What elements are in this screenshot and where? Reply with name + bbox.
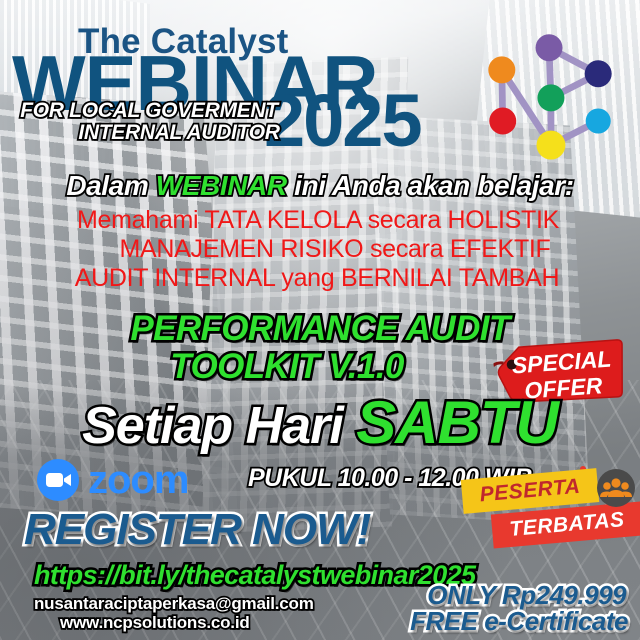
webinar-poster: The Catalyst WEBINAR 2025 FOR LOCAL GOVE… bbox=[0, 0, 640, 640]
lead-highlight: WEBINAR bbox=[156, 170, 287, 201]
logo-node-navy bbox=[585, 60, 612, 87]
logo-node-purple bbox=[536, 34, 563, 61]
logo-nodes bbox=[488, 34, 611, 159]
subtitle-line-1: FOR LOCAL GOVERMENT bbox=[14, 100, 284, 121]
limited-seats-badge: PESERTA TERBATAS bbox=[462, 470, 640, 550]
lead-after: ini Anda akan belajar: bbox=[287, 170, 574, 201]
benefit-list: Memahami TATA KELOLA secara HOLISTIK MAN… bbox=[0, 206, 640, 293]
title-year: 2025 bbox=[264, 84, 421, 158]
free-certificate-label: FREE e-Certificate bbox=[410, 606, 628, 637]
group-people-icon bbox=[596, 468, 636, 508]
logo-node-yellow bbox=[537, 131, 566, 160]
schedule-prefix: Setiap Hari bbox=[82, 397, 343, 455]
subtitle-line-2: INTERNAL AUDITOR bbox=[44, 122, 314, 143]
lead-line: Dalam WEBINAR ini Anda akan belajar: bbox=[0, 170, 640, 202]
benefit-item: MANAJEMEN RISIKO secara EFEKTIF bbox=[0, 235, 640, 264]
network-node-logo bbox=[470, 14, 630, 174]
lead-before: Dalam bbox=[66, 170, 155, 201]
video-camera-icon bbox=[36, 458, 80, 502]
logo-node-orange bbox=[488, 56, 515, 83]
schedule-day: SABTU bbox=[356, 389, 558, 456]
badge-line-1: PESERTA bbox=[479, 475, 581, 508]
zoom-wordmark: zoom bbox=[88, 460, 188, 500]
registration-link[interactable]: https://bit.ly/thecatalystwebinar2025 bbox=[34, 560, 475, 591]
badge-line-2: TERBATAS bbox=[509, 508, 626, 542]
register-now-button[interactable]: REGISTER NOW! bbox=[24, 505, 370, 555]
logo-node-green bbox=[537, 84, 564, 111]
logo-node-cyan bbox=[586, 108, 611, 133]
logo-node-red bbox=[489, 107, 516, 134]
contact-website[interactable]: www.ncpsolutions.co.id bbox=[60, 613, 250, 633]
benefit-item: AUDIT INTERNAL yang BERNILAI TAMBAH bbox=[0, 264, 640, 293]
platform-zoom: zoom bbox=[36, 458, 188, 502]
benefit-item: Memahami TATA KELOLA secara HOLISTIK bbox=[0, 206, 640, 235]
schedule-day-line: Setiap Hari SABTU bbox=[0, 393, 640, 453]
contact-email[interactable]: nusantaraciptaperkasa@gmail.com bbox=[34, 594, 314, 614]
